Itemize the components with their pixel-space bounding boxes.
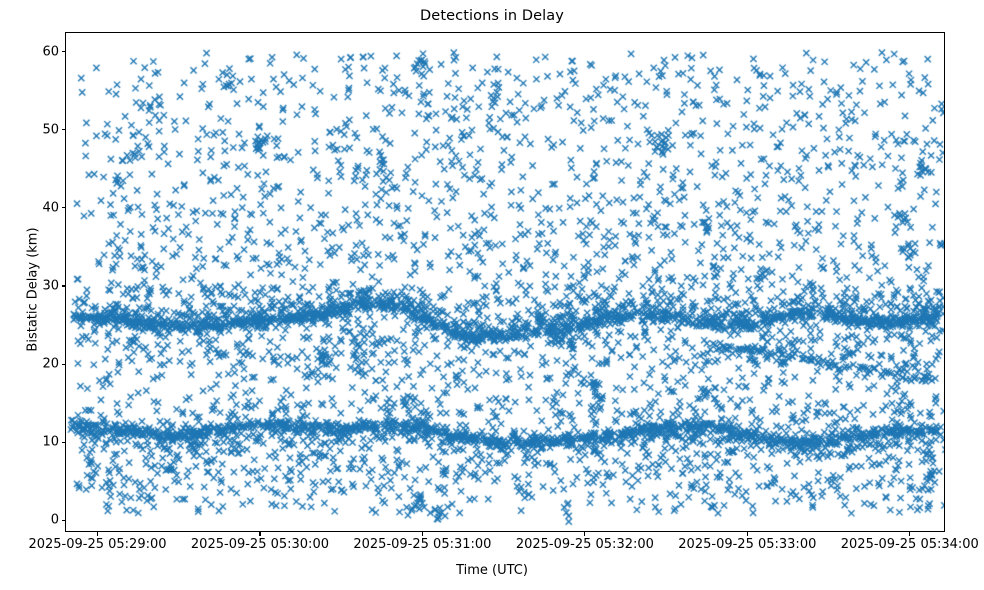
x-axis-tick-label: 2025-09-25 05:30:00 (191, 538, 329, 551)
x-axis-tick-label: 2025-09-25 05:29:00 (28, 538, 166, 551)
y-axis-tick-labels: 0102030405060 (8, 0, 59, 590)
x-axis-tick-mark (259, 532, 260, 536)
chart-figure: Detections in Delay Bistatic Delay (km) … (0, 0, 984, 590)
x-axis-tick-label: 2025-09-25 05:34:00 (841, 538, 979, 551)
x-axis-tick-label: 2025-09-25 05:33:00 (678, 538, 816, 551)
scatter-series (66, 33, 945, 532)
plot-area (65, 32, 945, 532)
y-axis-tick-label: 60 (13, 45, 59, 58)
y-axis-tick-label: 30 (13, 279, 59, 292)
y-axis-tick-label: 40 (13, 201, 59, 214)
y-axis-tick-label: 20 (13, 358, 59, 371)
y-axis-tick-label: 0 (13, 514, 59, 527)
x-axis-tick-mark (909, 532, 910, 536)
x-axis-tick-label: 2025-09-25 05:32:00 (516, 538, 654, 551)
x-axis-label: Time (UTC) (0, 563, 984, 578)
page-title: Detections in Delay (0, 8, 984, 24)
x-axis-tick-mark (422, 532, 423, 536)
y-axis-tick-label: 10 (13, 436, 59, 449)
x-axis-tick-mark (97, 532, 98, 536)
x-axis-tick-label: 2025-09-25 05:31:00 (353, 538, 491, 551)
x-axis-tick-mark (747, 532, 748, 536)
y-axis-tick-label: 50 (13, 123, 59, 136)
x-axis-tick-mark (584, 532, 585, 536)
